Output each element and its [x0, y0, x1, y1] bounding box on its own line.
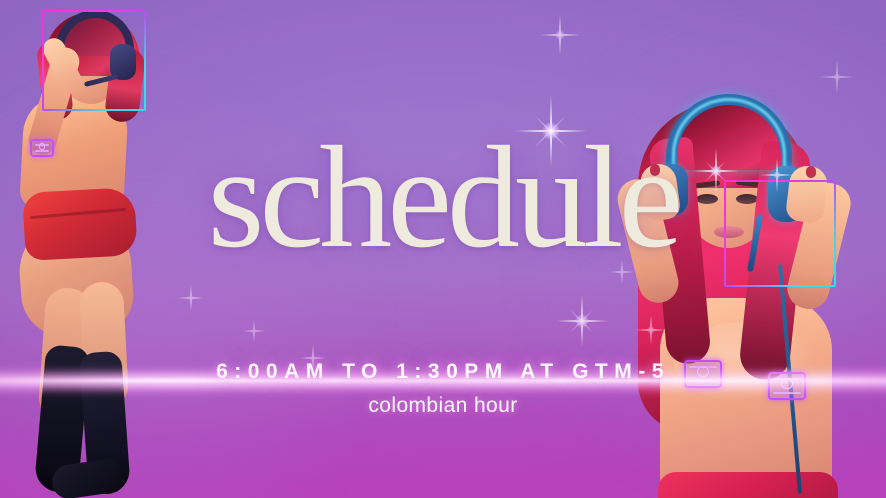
timezone-note-text: colombian hour: [0, 394, 886, 418]
red-bottoms: [658, 472, 838, 498]
neon-frame-left: [42, 10, 146, 111]
page-title: schedule: [0, 124, 886, 270]
schedule-time-text: 6:00AM TO 1:30PM AT GTM-5: [0, 360, 886, 384]
schedule-banner: schedule 6:00AM TO 1:30PM AT GTM-5 colom…: [0, 0, 886, 498]
